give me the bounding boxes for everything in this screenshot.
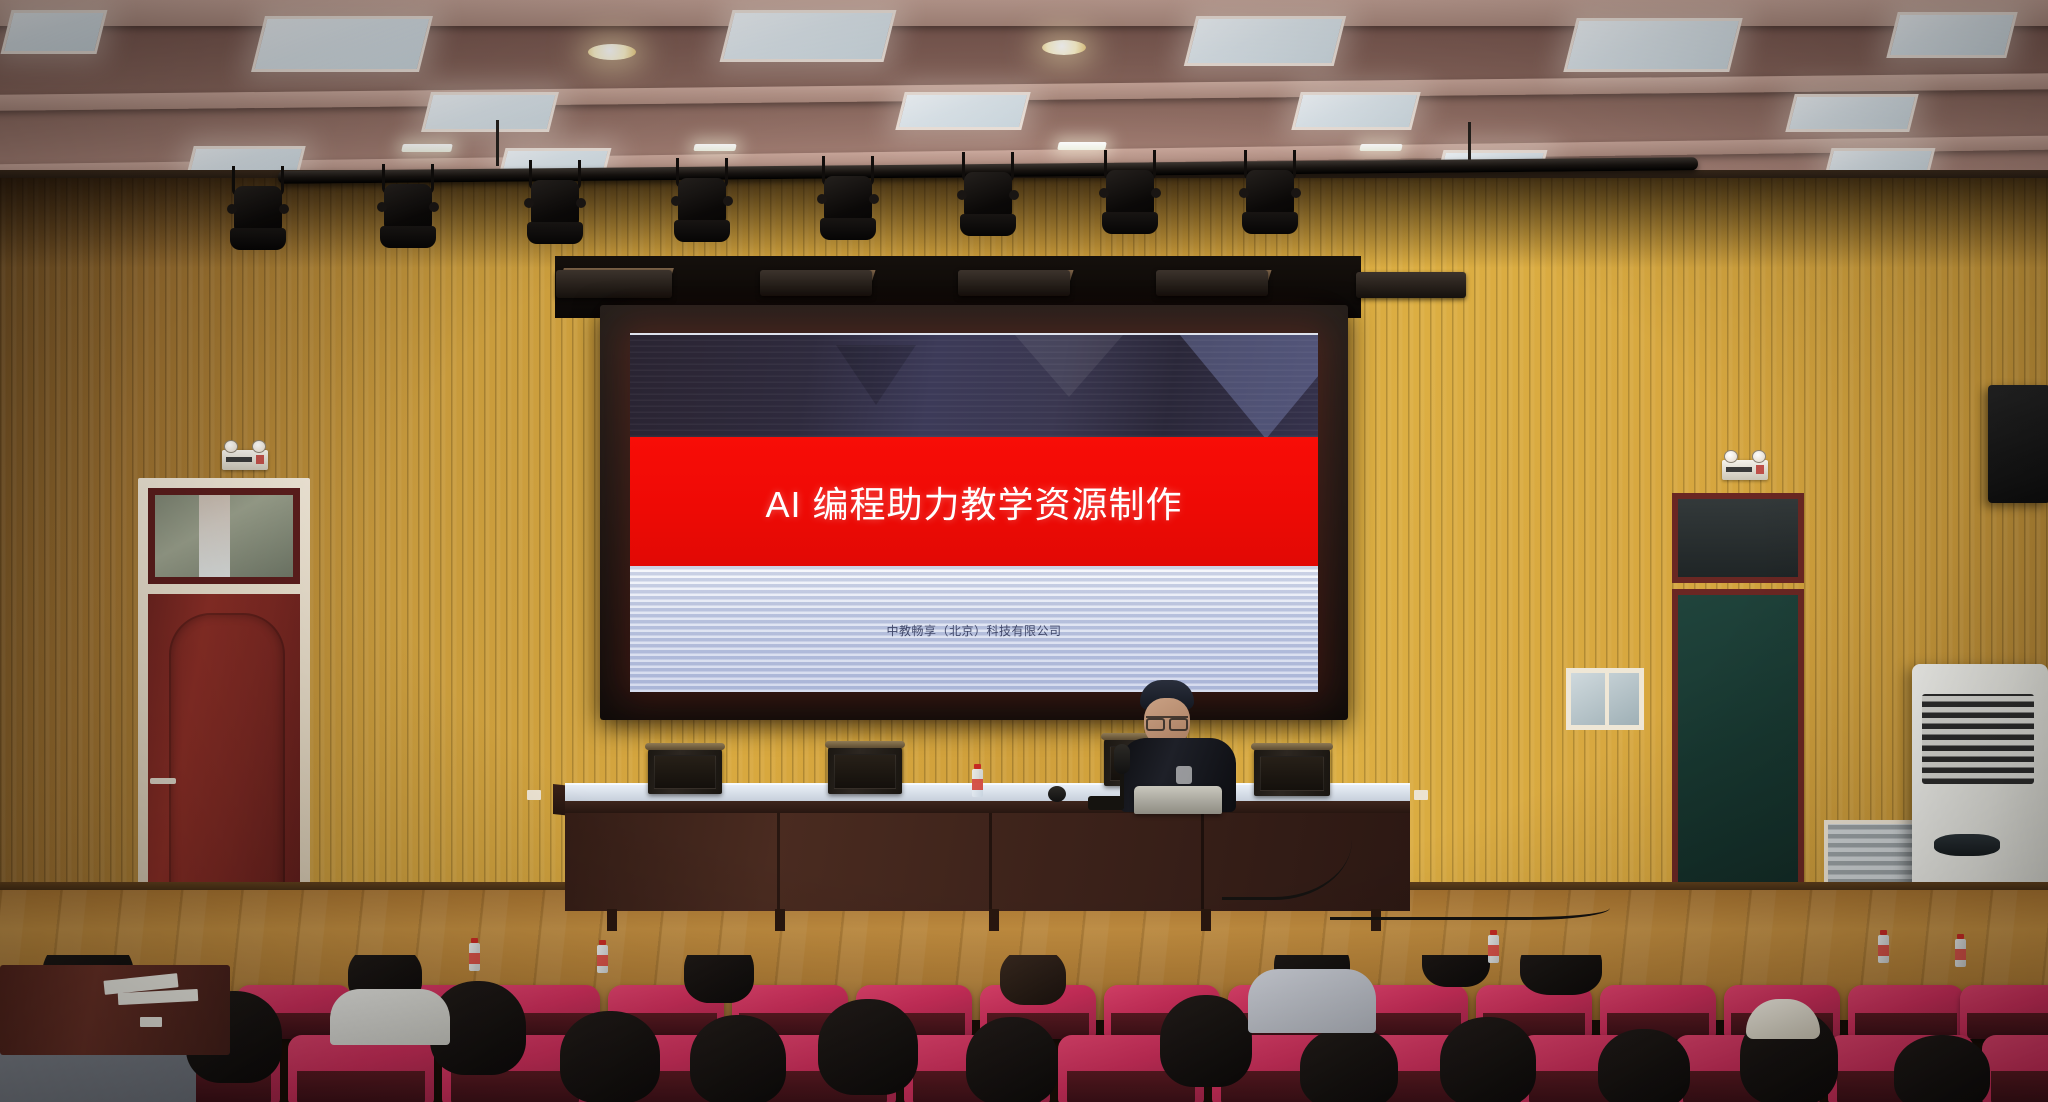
slide-title-text: AI 编程助力教学资源制作 <box>630 437 1318 566</box>
ceiling-tube-light <box>401 144 453 152</box>
audience-member <box>1300 1027 1398 1102</box>
ceiling-round-light <box>588 44 636 60</box>
microphone[interactable] <box>1114 744 1130 774</box>
stage-spotlight <box>378 164 438 264</box>
cable <box>1330 880 1610 920</box>
left-door[interactable] <box>138 478 310 906</box>
window <box>1566 668 1644 730</box>
audience-seat[interactable] <box>1848 985 1964 1039</box>
left-door-handle[interactable] <box>150 778 176 784</box>
audience-seating <box>0 955 2048 1102</box>
ceiling-tube-light <box>693 144 736 151</box>
auditorium-photo: AI 编程助力教学资源制作 中教畅享（北京）科技有限公司 <box>0 0 2048 1102</box>
ceiling-panel-light <box>1785 94 1918 132</box>
ceiling-tube-light <box>1359 144 1402 151</box>
ac-grill <box>1922 694 2034 784</box>
ceiling-panel-light <box>1184 16 1346 66</box>
audience-member-shoulders <box>330 989 450 1045</box>
ceiling-fixture-box <box>556 270 672 298</box>
led-screen-surface: AI 编程助力教学资源制作 中教畅享（北京）科技有限公司 <box>630 333 1318 692</box>
paper-sheet <box>140 1017 162 1027</box>
wall-outlet[interactable] <box>1414 790 1428 800</box>
presenter-shirt-graphic <box>1176 766 1192 784</box>
audience-member <box>1894 1035 1990 1102</box>
right-door-upper-glass <box>1672 493 1804 583</box>
audience-member <box>690 1015 786 1102</box>
wall-upper-shadow <box>0 178 2048 268</box>
right-door-lower-glass <box>1672 589 1804 905</box>
stage-spotlight <box>228 166 288 266</box>
ceiling-panel-light <box>895 92 1030 130</box>
audience-seat[interactable] <box>288 1035 434 1102</box>
slide-subtitle-text: 中教畅享（北京）科技有限公司 <box>630 622 1318 639</box>
ceiling-panel-light <box>720 10 897 62</box>
audience-member <box>818 999 918 1095</box>
slide-header-band <box>630 333 1318 437</box>
audience-member <box>1422 955 1490 987</box>
ceiling-fixture-box <box>958 270 1070 296</box>
presenter-glasses <box>1146 716 1188 723</box>
table-chair[interactable] <box>1254 748 1330 796</box>
audience-member <box>1440 1017 1536 1102</box>
audience-member <box>1520 955 1602 995</box>
microphone-base <box>1088 796 1124 810</box>
table-leg <box>989 909 999 931</box>
stage-spotlight <box>525 160 585 260</box>
ceiling-panel-light <box>1 10 108 54</box>
ceiling-panel-light <box>251 16 433 72</box>
laptop[interactable] <box>1134 786 1222 814</box>
ceiling-panel-light <box>1291 92 1420 130</box>
ceiling-panel-light <box>1563 18 1742 72</box>
emergency-light <box>1722 460 1768 480</box>
left-door-transom-glass <box>148 488 300 584</box>
stage-spotlight <box>1240 150 1300 250</box>
table-chair[interactable] <box>648 748 722 794</box>
table-panel-seam <box>777 813 780 911</box>
audience-member-shoulders <box>1248 969 1376 1033</box>
audience-seat[interactable] <box>1960 985 2048 1039</box>
stage-spotlight <box>1100 150 1160 250</box>
door-panel-inset <box>169 613 285 900</box>
wall-speaker <box>1988 385 2048 503</box>
slide-line-texture <box>630 335 1318 437</box>
ceiling-tube-light <box>1057 142 1107 150</box>
table-panel-seam <box>1201 813 1204 911</box>
truss-drop-rod <box>496 120 499 166</box>
stage-spotlight <box>958 152 1018 252</box>
table-leg <box>607 909 617 931</box>
slide-title-band: AI 编程助力教学资源制作 <box>630 437 1318 566</box>
audience-member <box>1598 1029 1690 1102</box>
ceiling-panel-light <box>1886 12 2017 58</box>
ac-display-panel <box>1934 834 2000 856</box>
stage-spotlight <box>818 156 878 256</box>
ceiling-fixture-box <box>760 270 872 296</box>
stage-spotlight <box>672 158 732 258</box>
ceiling-round-light <box>1042 40 1086 55</box>
audience-member <box>1000 955 1066 1005</box>
left-door-slab[interactable] <box>148 594 300 906</box>
audience-member <box>684 955 754 1003</box>
table-panel-seam <box>989 813 992 911</box>
ceiling-fixture-box <box>1156 270 1268 296</box>
table-chair[interactable] <box>828 746 902 794</box>
right-door[interactable] <box>1664 485 1812 905</box>
slide-footer-band: 中教畅享（北京）科技有限公司 <box>630 566 1318 692</box>
table-leg <box>775 909 785 931</box>
ceiling-fixture-box <box>1356 272 1466 298</box>
audience-seat[interactable] <box>1982 1035 2048 1102</box>
emergency-light <box>222 450 268 470</box>
side-desk <box>0 965 230 1055</box>
audience-member <box>1160 995 1252 1087</box>
ceiling-panel-light <box>421 92 559 132</box>
transom-reflection <box>199 495 229 577</box>
audience-member <box>560 1011 660 1102</box>
audience-member <box>966 1017 1058 1102</box>
table-leg <box>1201 909 1211 931</box>
wall-outlet[interactable] <box>527 790 541 800</box>
microphone[interactable] <box>1048 786 1066 802</box>
led-display-screen[interactable]: AI 编程助力教学资源制作 中教畅享（北京）科技有限公司 <box>600 305 1348 720</box>
